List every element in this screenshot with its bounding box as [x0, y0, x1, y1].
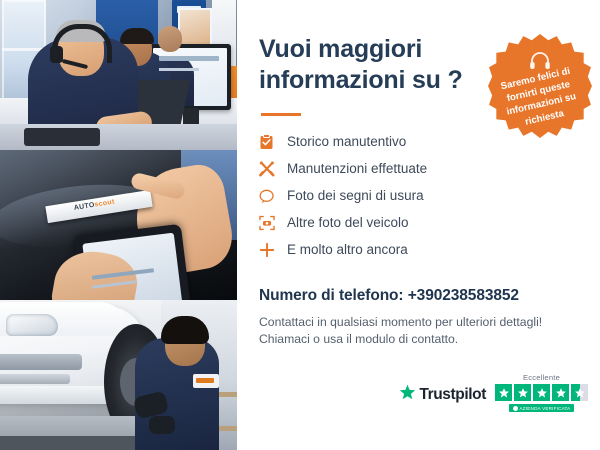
- trustpilot-widget[interactable]: Trustpilot Eccellente: [399, 373, 588, 412]
- star-filled: [533, 384, 550, 401]
- contact-text: Contattaci in qualsiasi momento per ulte…: [259, 314, 582, 349]
- list-item-label: Storico manutentivo: [283, 135, 406, 149]
- contact-line-1: Contattaci in qualsiasi momento per ulte…: [259, 315, 542, 329]
- clipboard-check-icon: [259, 132, 283, 152]
- trustpilot-rating-block: Eccellente: [495, 373, 588, 412]
- trustpilot-star-icon: [399, 384, 416, 406]
- star-filled: [552, 384, 569, 401]
- feature-list: Storico manutentivo Manutenzioni effettu…: [259, 130, 582, 263]
- list-item-label: Manutenzioni effettuate: [283, 162, 427, 176]
- list-item: E molto altro ancora: [259, 238, 582, 263]
- trustpilot-rating-label: Eccellente: [523, 373, 560, 382]
- phone-line: Numero di telefono: +390238583852: [259, 287, 582, 305]
- verified-badge: AZIENDA VERIFICATA: [509, 404, 575, 412]
- check-icon: [513, 406, 518, 411]
- verified-label: AZIENDA VERIFICATA: [520, 406, 571, 411]
- star-filled: [495, 384, 512, 401]
- title-divider: [261, 113, 301, 116]
- phone-number[interactable]: +390238583852: [408, 287, 519, 304]
- plus-icon: [259, 240, 283, 260]
- trustpilot-logo: Trustpilot: [399, 384, 486, 412]
- star-filled: [514, 384, 531, 401]
- contact-line-2: Chiamaci o usa il modulo di contatto.: [259, 332, 458, 346]
- speech-bubble-icon: [259, 186, 283, 206]
- list-item-label: Altre foto del veicolo: [283, 216, 409, 230]
- trustpilot-name: Trustpilot: [419, 386, 486, 404]
- call-center-agents-photo: [0, 0, 237, 150]
- list-item: Foto dei segni di usura: [259, 184, 582, 209]
- photo-column: AUTOscout: [0, 0, 237, 450]
- trustpilot-stars: [495, 384, 588, 401]
- tools-wrench-icon: [259, 159, 283, 179]
- photo-scan-icon: [259, 213, 283, 233]
- list-item-label: E molto altro ancora: [283, 243, 408, 257]
- info-starburst-badge: Saremo felici di fornirti queste informa…: [488, 34, 592, 138]
- content-panel: Vuoi maggiori informazioni su ? Storico …: [237, 0, 600, 450]
- phone-label: Numero di telefono:: [259, 287, 404, 304]
- mechanic-wheel-inspection-photo: [0, 300, 237, 450]
- list-item-label: Foto dei segni di usura: [283, 189, 424, 203]
- list-item: Manutenzioni effettuate: [259, 157, 582, 182]
- paint-thickness-inspection-photo: AUTOscout: [0, 150, 237, 300]
- promo-banner: AUTOscout: [0, 0, 600, 450]
- page-title: Vuoi maggiori informazioni su ?: [259, 34, 474, 97]
- photo-scan-icon-row: Altre foto del veicolo: [259, 211, 582, 236]
- star-half: [571, 384, 588, 401]
